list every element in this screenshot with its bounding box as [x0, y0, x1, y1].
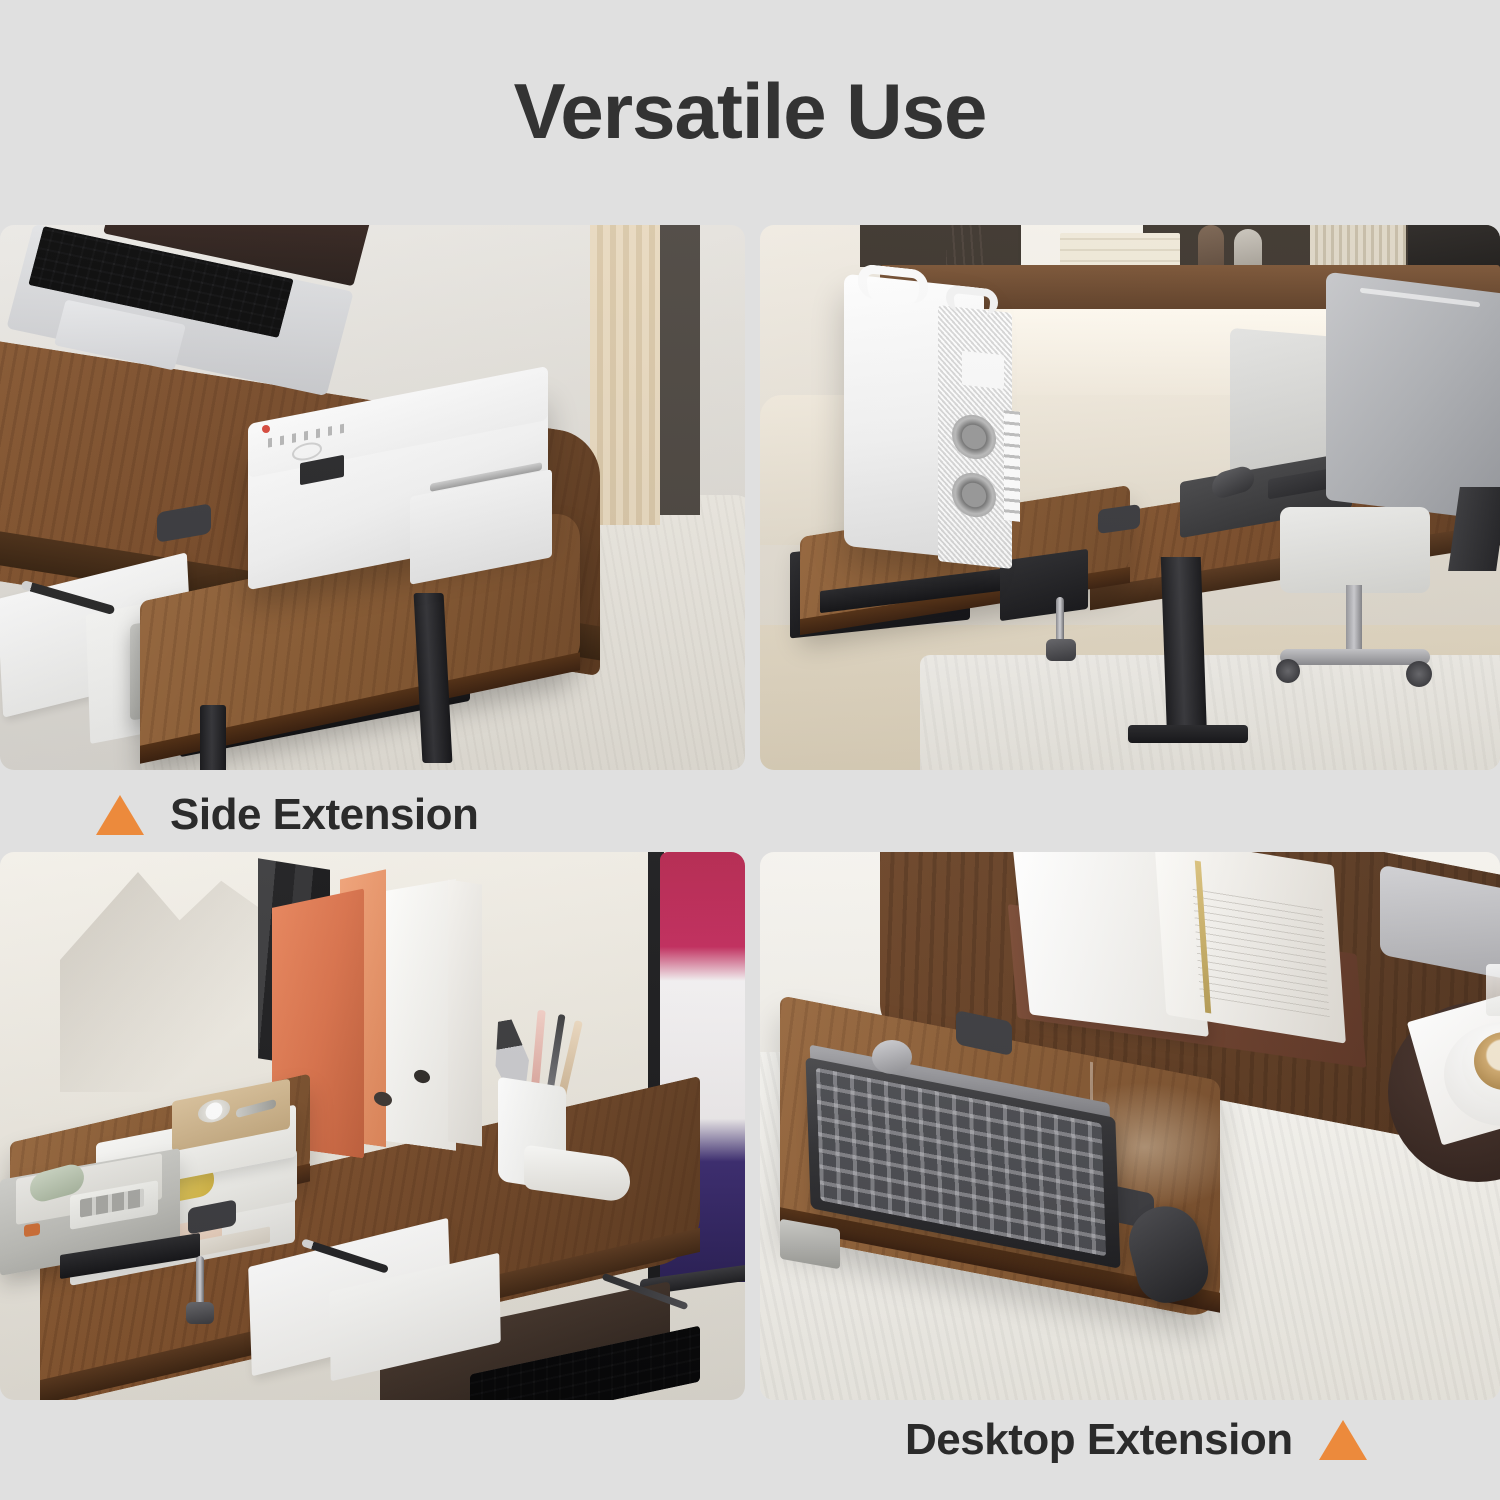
panel-side-extension-tower-pc — [760, 225, 1500, 770]
tower-pc-ports — [1004, 410, 1020, 522]
chair-caster — [1406, 661, 1432, 687]
tower-pc-label — [962, 351, 1004, 389]
chair-post — [1346, 585, 1362, 657]
black-desk-leg — [1161, 557, 1207, 743]
panel-side-extension-printer — [0, 225, 745, 770]
clamp-block — [1000, 549, 1088, 621]
clamp-knob — [186, 1302, 214, 1324]
chair-caster — [1276, 659, 1300, 683]
caption-desktop-extension-label: Desktop Extension — [905, 1415, 1293, 1465]
caption-desktop-extension: Desktop Extension — [905, 1415, 1367, 1465]
caption-side-extension: Side Extension — [96, 790, 478, 840]
caption-side-extension-label: Side Extension — [170, 790, 478, 840]
wood-slat-panel — [590, 225, 660, 525]
white-magazine-file — [448, 880, 482, 1147]
printer-power-led — [262, 425, 270, 433]
chair-base — [1280, 649, 1430, 665]
triangle-up-icon — [96, 795, 144, 835]
triangle-up-icon — [1319, 1420, 1367, 1460]
monitor-rear — [1326, 272, 1500, 523]
clamp-thumb-screw — [196, 1256, 204, 1308]
clamp-thumb-screw — [1056, 597, 1064, 645]
water-glass — [1486, 964, 1500, 1016]
volume-dial — [872, 1040, 912, 1074]
desk-leg-lower — [200, 705, 226, 770]
book-text-lines — [1192, 885, 1329, 1017]
panel-side-extension-organizers — [0, 852, 745, 1400]
clamp-knob — [1046, 639, 1076, 661]
orange-pull-tab — [24, 1223, 40, 1237]
page-title: Versatile Use — [0, 72, 1500, 150]
office-chair-seat — [1280, 507, 1430, 593]
dark-wall-panel — [660, 225, 700, 515]
white-magazine-file — [386, 869, 456, 1151]
panel-desktop-extension — [760, 852, 1500, 1400]
desk-foot — [1128, 725, 1248, 743]
